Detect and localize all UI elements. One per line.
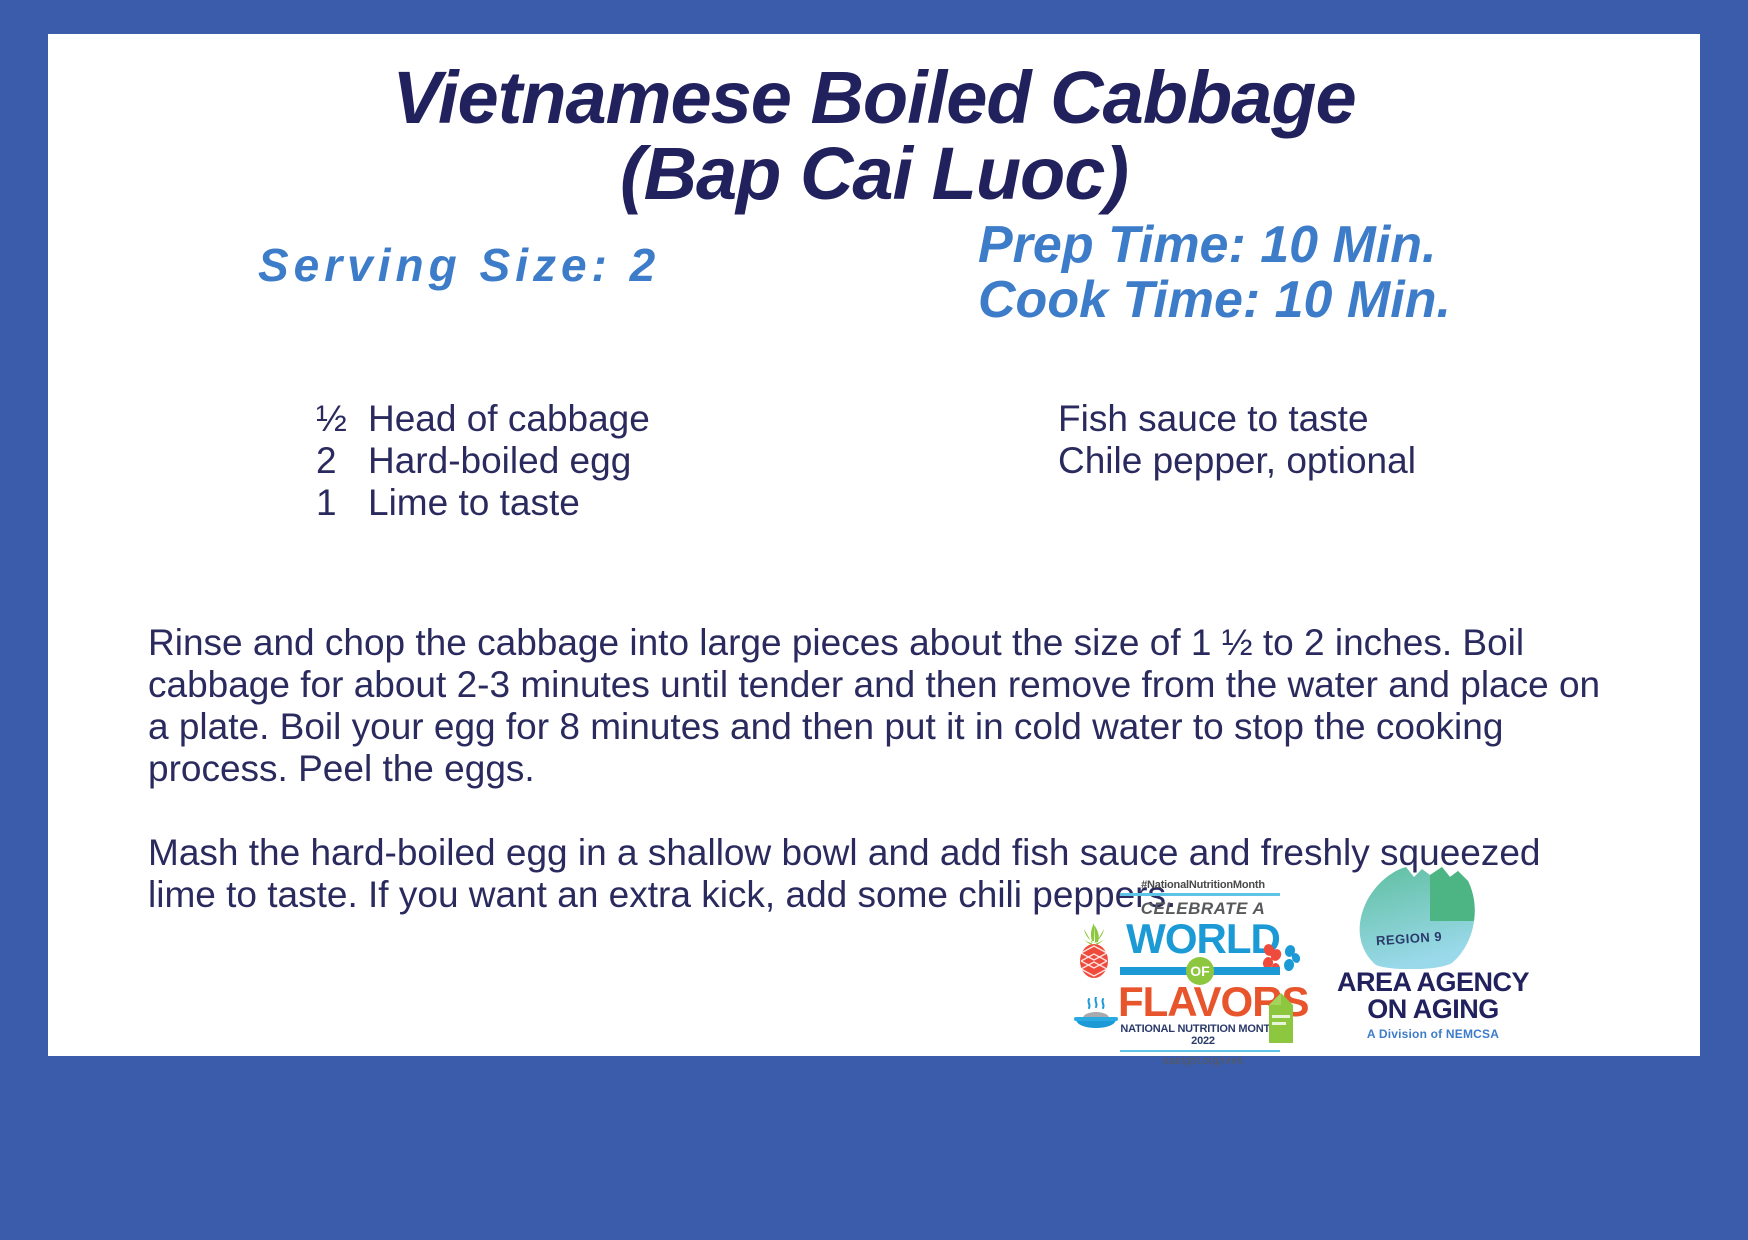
national-nutrition-month-logo: #NationalNutritionMonth CELEBRATE A WORL… bbox=[1068, 879, 1288, 1067]
instructions-paragraph-1: Rinse and chop the cabbage into large pi… bbox=[148, 622, 1618, 790]
ingredient-name: Lime to taste bbox=[368, 482, 580, 524]
ingredients-column-left: ½ Head of cabbage 2 Hard-boiled egg 1 Li… bbox=[316, 398, 650, 524]
milk-carton-icon bbox=[1264, 989, 1298, 1045]
ingredient-item: 2 Hard-boiled egg bbox=[316, 440, 650, 482]
nnm-flavors-text: FLAVORS bbox=[1118, 981, 1288, 1023]
ingredient-item: Chile pepper, optional bbox=[1058, 440, 1416, 482]
recipe-card: Vietnamese Boiled Cabbage (Bap Cai Luoc)… bbox=[48, 34, 1700, 1056]
time-block: Prep Time: 10 Min. Cook Time: 10 Min. bbox=[978, 218, 1451, 328]
pineapple-icon bbox=[1072, 921, 1116, 979]
cook-time: Cook Time: 10 Min. bbox=[978, 273, 1451, 328]
nnm-divider-top bbox=[1120, 893, 1280, 896]
nnm-of-row: OF bbox=[1120, 959, 1288, 981]
nnm-divider-bottom bbox=[1120, 1050, 1280, 1052]
soup-bowl-icon bbox=[1072, 997, 1120, 1037]
area-agency-on-aging-logo: REGION 9 AREA AGENCY ON AGING A Division… bbox=[1318, 859, 1548, 1041]
aaa-division-text: A Division of NEMCSA bbox=[1318, 1027, 1548, 1041]
nnm-of-text: OF bbox=[1186, 957, 1214, 985]
ingredients-column-right: Fish sauce to taste Chile pepper, option… bbox=[1058, 398, 1416, 482]
michigan-map-icon bbox=[1318, 859, 1548, 969]
ingredient-item: Fish sauce to taste bbox=[1058, 398, 1416, 440]
nnm-url: eatright.org/nnm bbox=[1118, 1055, 1288, 1067]
aaa-title-line-2: ON AGING bbox=[1318, 996, 1548, 1023]
page-title: Vietnamese Boiled Cabbage (Bap Cai Luoc) bbox=[48, 60, 1700, 212]
ingredient-quantity: 1 bbox=[316, 482, 368, 524]
ingredient-item: ½ Head of cabbage bbox=[316, 398, 650, 440]
nnm-hashtag: #NationalNutritionMonth bbox=[1118, 879, 1288, 891]
ingredient-name: Hard-boiled egg bbox=[368, 440, 631, 482]
title-line-2: (Bap Cai Luoc) bbox=[48, 136, 1700, 212]
ingredient-name: Head of cabbage bbox=[368, 398, 650, 440]
ingredient-item: 1 Lime to taste bbox=[316, 482, 650, 524]
serving-size: Serving Size: 2 bbox=[258, 238, 660, 292]
ingredient-quantity: ½ bbox=[316, 398, 368, 440]
prep-time: Prep Time: 10 Min. bbox=[978, 218, 1451, 273]
aaa-title-line-1: AREA AGENCY bbox=[1318, 969, 1548, 996]
title-line-1: Vietnamese Boiled Cabbage bbox=[48, 60, 1700, 136]
nnm-subtitle: NATIONAL NUTRITION MONTH® 2022 bbox=[1118, 1023, 1288, 1047]
ingredients-section: ½ Head of cabbage 2 Hard-boiled egg 1 Li… bbox=[48, 398, 1700, 528]
ingredient-quantity: 2 bbox=[316, 440, 368, 482]
recipe-meta: Serving Size: 2 Prep Time: 10 Min. Cook … bbox=[48, 226, 1700, 346]
logo-group: #NationalNutritionMonth CELEBRATE A WORL… bbox=[1068, 879, 1608, 1059]
